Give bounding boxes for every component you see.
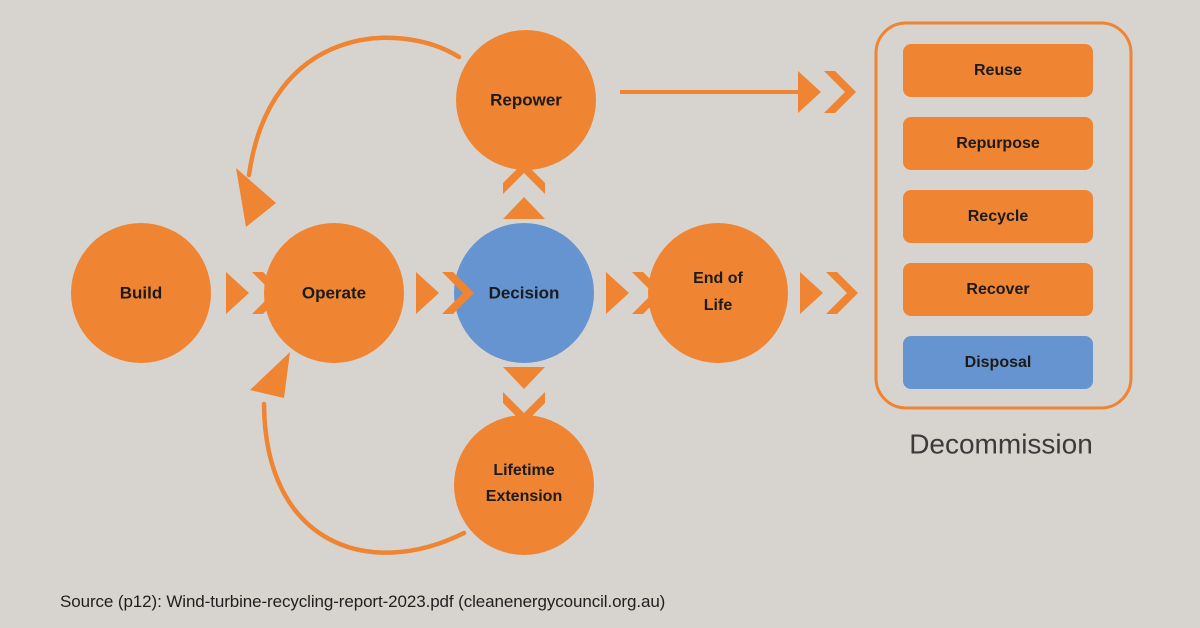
diagram-canvas: Build Operate Decision Repower Lifetime … xyxy=(0,0,1200,628)
repurpose-label: Repurpose xyxy=(956,135,1040,152)
node-operate[interactable]: Operate xyxy=(264,223,404,363)
edge-repower-to-operate xyxy=(236,38,459,227)
decommission-item-recycle[interactable]: Recycle xyxy=(903,190,1093,243)
build-label: Build xyxy=(120,283,163,302)
lifetime-extension-circle xyxy=(454,415,594,555)
source-caption: Source (p12): Wind-turbine-recycling-rep… xyxy=(60,592,665,612)
reuse-label: Reuse xyxy=(974,62,1022,79)
lifecycle-flow-diagram: Build Operate Decision Repower Lifetime … xyxy=(0,0,1200,628)
end-of-life-label-line2: Life xyxy=(704,297,733,314)
edge-decision-to-lifetime-extension xyxy=(503,367,545,424)
decommission-item-recover[interactable]: Recover xyxy=(903,263,1093,316)
node-repower[interactable]: Repower xyxy=(456,30,596,170)
repower-label: Repower xyxy=(490,90,562,109)
recycle-label: Recycle xyxy=(968,208,1029,225)
decommission-item-reuse[interactable]: Reuse xyxy=(903,44,1093,97)
node-end-of-life[interactable]: End of Life xyxy=(648,223,788,363)
decision-label: Decision xyxy=(489,283,560,302)
node-lifetime-extension[interactable]: Lifetime Extension xyxy=(454,415,594,555)
lifetime-extension-label-line1: Lifetime xyxy=(493,462,554,479)
lifetime-extension-label-line2: Extension xyxy=(486,488,562,505)
decommission-item-disposal[interactable]: Disposal xyxy=(903,336,1093,389)
recover-label: Recover xyxy=(966,281,1029,298)
edge-repower-to-decommission xyxy=(620,71,856,113)
edge-decision-to-repower xyxy=(503,162,545,219)
disposal-label: Disposal xyxy=(965,354,1032,371)
end-of-life-circle xyxy=(648,223,788,363)
edge-end-of-life-to-decommission xyxy=(800,272,858,314)
node-build[interactable]: Build xyxy=(71,223,211,363)
decommission-panel[interactable]: Reuse Repurpose Recycle Recover Disposal xyxy=(876,23,1131,408)
operate-label: Operate xyxy=(302,283,366,302)
node-decision[interactable]: Decision xyxy=(454,223,594,363)
decommission-caption: Decommission xyxy=(909,428,1093,459)
edge-lifetime-extension-to-operate xyxy=(250,352,464,553)
decommission-item-repurpose[interactable]: Repurpose xyxy=(903,117,1093,170)
end-of-life-label-line1: End of xyxy=(693,270,743,287)
